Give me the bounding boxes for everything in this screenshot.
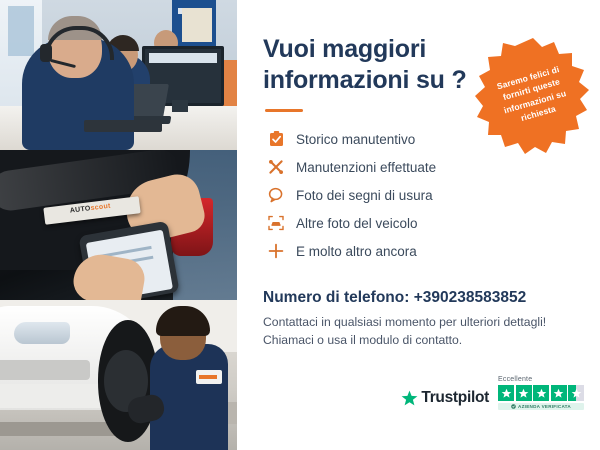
- photo-column: AUTOscout: [0, 0, 237, 450]
- trustpilot-widget[interactable]: Trustpilot Eccellente AZIENDA VERIFICA: [401, 376, 584, 410]
- call-center-photo: [0, 0, 237, 150]
- monitor-stand-decor: [172, 100, 188, 112]
- trustpilot-rating: Eccellente AZIENDA VERIFICATA: [498, 376, 584, 410]
- contact-line-2: Chiamaci o usa il modulo di contatto.: [263, 333, 462, 347]
- feature-item-foto-usura: Foto dei segni di usura: [263, 182, 578, 208]
- advertisement-banner: AUTOscout Vuoi maggior: [0, 0, 600, 450]
- feature-item-altre-foto: Altre foto del veicolo: [263, 210, 578, 236]
- grille-decor: [0, 360, 90, 380]
- headlight-decor: [14, 322, 70, 344]
- star-1-icon: [498, 385, 514, 401]
- bumper-decor: [0, 384, 110, 408]
- star-4-icon: [551, 385, 567, 401]
- uniform-logo-decor: [196, 370, 222, 384]
- wall-poster-decor: [182, 8, 212, 42]
- verified-badge: AZIENDA VERIFICATA: [498, 403, 584, 410]
- search-bubble-icon: [263, 187, 289, 203]
- feature-label: Manutenzioni effettuate: [296, 160, 436, 175]
- paint-gauge-photo: AUTOscout: [0, 150, 237, 300]
- feature-label: Foto dei segni di usura: [296, 188, 433, 203]
- keyboard-decor: [84, 120, 162, 132]
- contact-line-1: Contattaci in qualsiasi momento per ulte…: [263, 315, 546, 329]
- title-divider: [265, 109, 303, 112]
- page-title: Vuoi maggiori informazioni su ?: [263, 34, 478, 95]
- feature-item-manutenzioni: Manutenzioni effettuate: [263, 154, 578, 180]
- content-panel: Vuoi maggiori informazioni su ? Saremo f…: [237, 0, 600, 450]
- plus-icon: [263, 243, 289, 259]
- mechanic-body-decor: [150, 344, 228, 450]
- verified-label: AZIENDA VERIFICATA: [518, 404, 571, 409]
- wrench-screwdriver-icon: [263, 159, 289, 175]
- star-2-icon: [516, 385, 532, 401]
- feature-label: Altre foto del veicolo: [296, 216, 418, 231]
- wheel-inspection-photo: [0, 300, 237, 450]
- feature-item-altro-ancora: E molto altro ancora: [263, 238, 578, 264]
- trustpilot-star-icon: [401, 390, 418, 407]
- car-frame-icon: [263, 215, 289, 231]
- contact-description: Contattaci in qualsiasi momento per ulte…: [263, 314, 563, 350]
- clipboard-check-icon: [263, 131, 289, 147]
- trustpilot-logo: Trustpilot: [401, 389, 489, 410]
- rating-label: Eccellente: [498, 376, 532, 383]
- feature-label: Storico manutentivo: [296, 132, 415, 147]
- callout-badge: Saremo felici di fornirti queste informa…: [474, 36, 592, 154]
- trustpilot-wordmark: Trustpilot: [421, 389, 489, 407]
- star-5-icon: [568, 385, 584, 401]
- feature-label: E molto altro ancora: [296, 244, 417, 259]
- shield-check-icon: [511, 404, 516, 409]
- star-3-icon: [533, 385, 549, 401]
- phone-number[interactable]: Numero di telefono: +390238583852: [263, 289, 578, 307]
- badge-text: Saremo felici di fornirti queste informa…: [482, 60, 584, 132]
- star-rating: [498, 385, 584, 401]
